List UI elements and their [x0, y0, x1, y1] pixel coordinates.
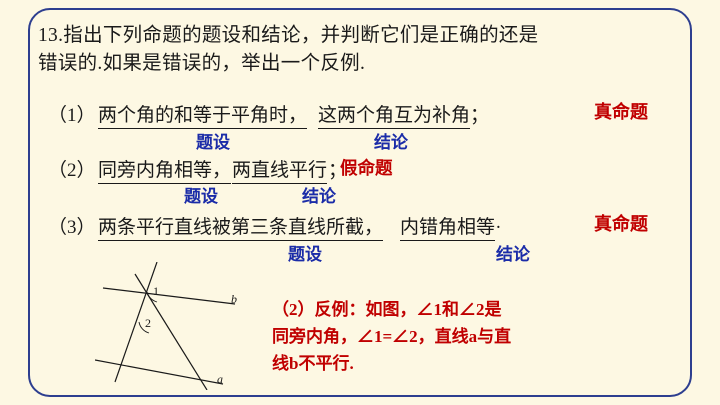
item-1-tail: ； — [470, 100, 489, 127]
line-b-label: b — [231, 292, 237, 307]
item-1-conclusion: 这两个角互为补角 — [318, 100, 470, 129]
item-3-premise-label: 题设 — [288, 240, 322, 265]
line-a-label: a — [217, 372, 223, 387]
item-3-tail: . — [496, 212, 501, 234]
item-1-conclusion-label: 结论 — [374, 128, 408, 153]
line-a — [95, 360, 223, 384]
example-line-1: （2）反例：如图，∠1和∠2是 — [272, 298, 502, 321]
item-1-verdict: 真命题 — [594, 98, 648, 124]
angle-2-label: 2 — [145, 316, 151, 331]
item-3-number: （3） — [48, 212, 96, 239]
item-3-conclusion: 内错角相等 — [400, 212, 495, 241]
question-line-1: 13.指出下列命题的题设和结论，并判断它们是正确的还是 — [38, 18, 538, 47]
item-2-conclusion-label: 结论 — [302, 182, 336, 207]
question-line-2: 错误的.如果是错误的，举出一个反例. — [38, 46, 365, 75]
item-3-verdict: 真命题 — [594, 210, 648, 236]
item-2-verdict: 假命题 — [340, 155, 393, 180]
item-2-premise-label: 题设 — [184, 182, 218, 207]
item-3-premise: 两条平行直线被第三条直线所截， — [98, 212, 383, 241]
item-2-number: （2） — [48, 155, 96, 182]
geometry-figure: 1 2 b a — [95, 262, 260, 390]
item-1-number: （1） — [48, 100, 96, 127]
item-2-premise: 同旁内角相等， — [98, 155, 231, 184]
item-2-conclusion: 两直线平行 — [232, 155, 327, 184]
item-3-conclusion-label: 结论 — [496, 240, 530, 265]
slide-canvas: 13.指出下列命题的题设和结论，并判断它们是正确的还是 错误的.如果是错误的，举… — [0, 0, 720, 405]
example-line-2: 同旁内角，∠1=∠2，直线a与直 — [272, 325, 511, 348]
angle-1-label: 1 — [153, 284, 159, 299]
geometry-figure-svg — [95, 262, 260, 390]
item-1-premise-label: 题设 — [196, 128, 230, 153]
item-1-premise: 两个角的和等于平角时， — [98, 100, 307, 129]
line-b — [103, 288, 235, 304]
example-line-3: 线b不平行. — [272, 352, 354, 375]
